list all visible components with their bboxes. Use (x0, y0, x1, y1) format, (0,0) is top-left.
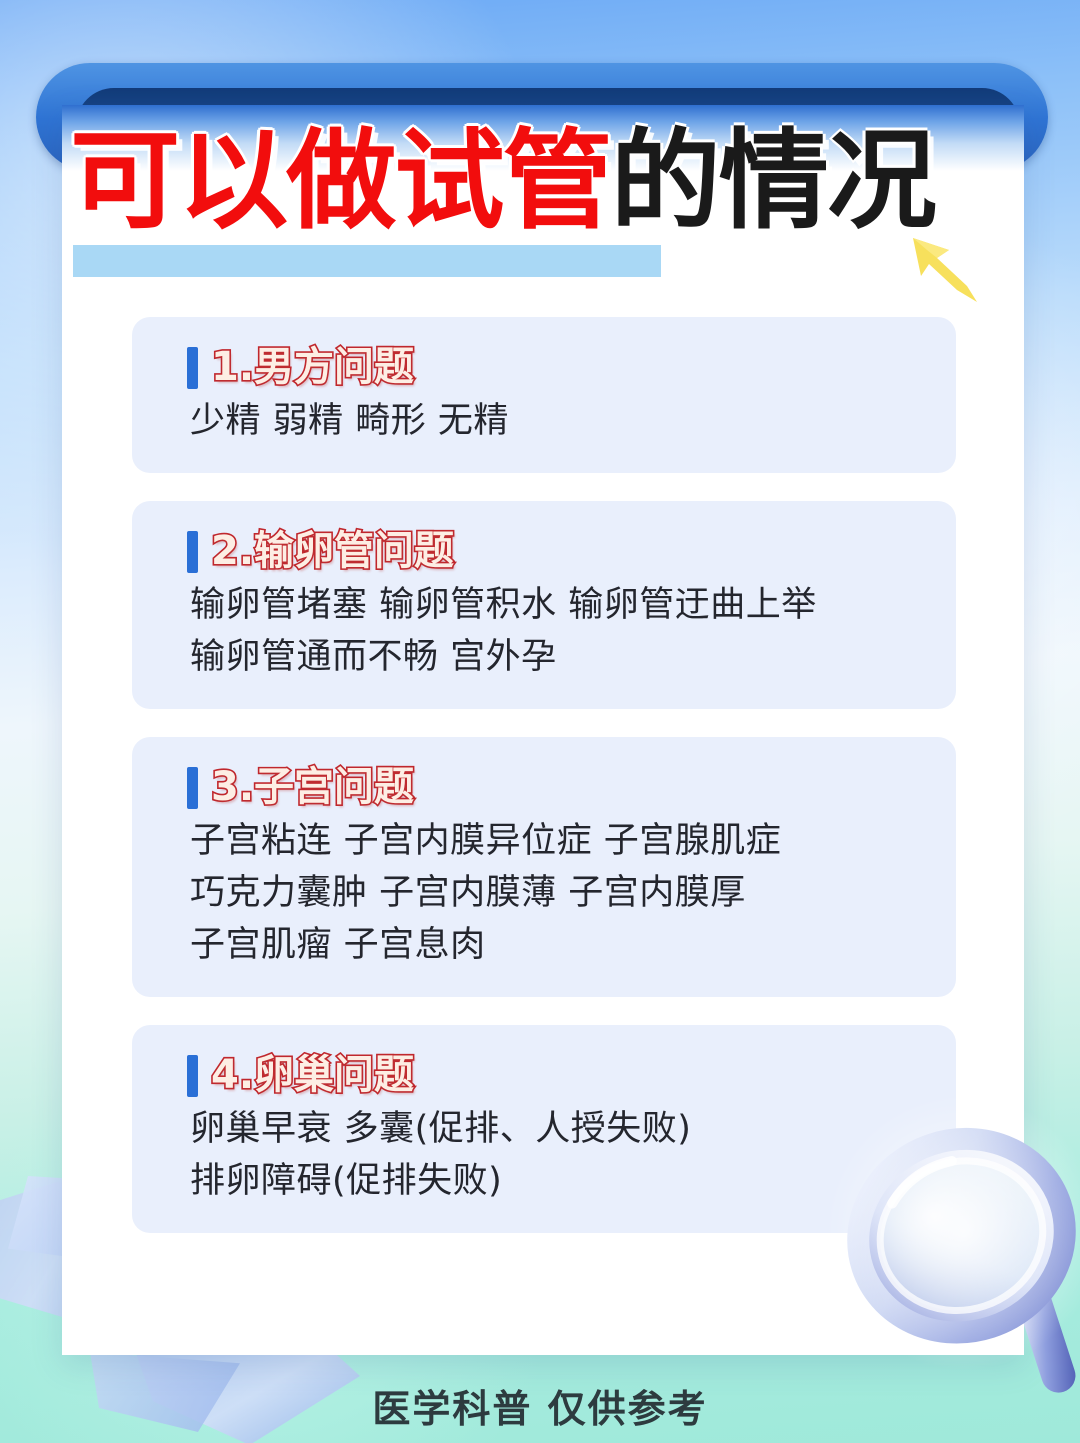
section-accent-bar (187, 1055, 198, 1097)
section-header: 4.卵巢问题 (132, 1051, 956, 1099)
sections-list: 1.男方问题 少精 弱精 畸形 无精 2.输卵管问题 输卵管堵塞 输卵管积水 输… (132, 317, 956, 1261)
section-line: 输卵管堵塞 输卵管积水 输卵管迂曲上举 (190, 579, 922, 631)
section-accent-bar (187, 767, 198, 809)
section-accent-bar (187, 347, 198, 389)
section-header: 3.子宫问题 (132, 763, 956, 811)
section-title: 3.子宫问题 (211, 763, 414, 811)
section-card[interactable]: 1.男方问题 少精 弱精 畸形 无精 (132, 317, 956, 473)
section-card[interactable]: 3.子宫问题 子宫粘连 子宫内膜异位症 子宫腺肌症 巧克力囊肿 子宫内膜薄 子宫… (132, 737, 956, 997)
section-line: 卵巢早衰 多囊(促排、人授失败) (190, 1103, 922, 1155)
page-title-red: 可以做试管 (70, 119, 611, 244)
section-card[interactable]: 2.输卵管问题 输卵管堵塞 输卵管积水 输卵管迂曲上举 输卵管通而不畅 宫外孕 (132, 501, 956, 709)
section-body: 卵巢早衰 多囊(促排、人授失败) 排卵障碍(促排失败) (132, 1103, 956, 1207)
section-accent-bar (187, 531, 198, 573)
section-line: 输卵管通而不畅 宫外孕 (190, 631, 922, 683)
section-line: 子宫粘连 子宫内膜异位症 子宫腺肌症 (190, 815, 922, 867)
content-card: 可以做试管的情况 1.男方问题 少精 弱精 畸形 无精 (62, 105, 1024, 1355)
page-title: 可以做试管的情况 (70, 123, 935, 241)
poster-root: 可以做试管的情况 1.男方问题 少精 弱精 畸形 无精 (0, 0, 1080, 1443)
section-title: 2.输卵管问题 (211, 527, 454, 575)
section-card[interactable]: 4.卵巢问题 卵巢早衰 多囊(促排、人授失败) 排卵障碍(促排失败) (132, 1025, 956, 1233)
section-line: 巧克力囊肿 子宫内膜薄 子宫内膜厚 (190, 867, 922, 919)
section-body: 子宫粘连 子宫内膜异位症 子宫腺肌症 巧克力囊肿 子宫内膜薄 子宫内膜厚 子宫肌… (132, 815, 956, 971)
section-title: 1.男方问题 (211, 343, 414, 391)
page-title-black: 的情况 (611, 119, 935, 244)
title-block: 可以做试管的情况 (62, 105, 1024, 305)
title-highlight-bar (73, 245, 661, 277)
section-body: 少精 弱精 畸形 无精 (132, 395, 956, 447)
section-body: 输卵管堵塞 输卵管积水 输卵管迂曲上举 输卵管通而不畅 宫外孕 (132, 579, 956, 683)
yellow-arrow-icon (907, 228, 985, 308)
section-header: 1.男方问题 (132, 343, 956, 391)
section-line: 排卵障碍(促排失败) (190, 1155, 922, 1207)
footer-disclaimer: 医学科普 仅供参考 (0, 1378, 1080, 1433)
section-line: 子宫肌瘤 子宫息肉 (190, 919, 922, 971)
section-header: 2.输卵管问题 (132, 527, 956, 575)
section-title: 4.卵巢问题 (211, 1051, 414, 1099)
section-line: 少精 弱精 畸形 无精 (190, 395, 922, 447)
